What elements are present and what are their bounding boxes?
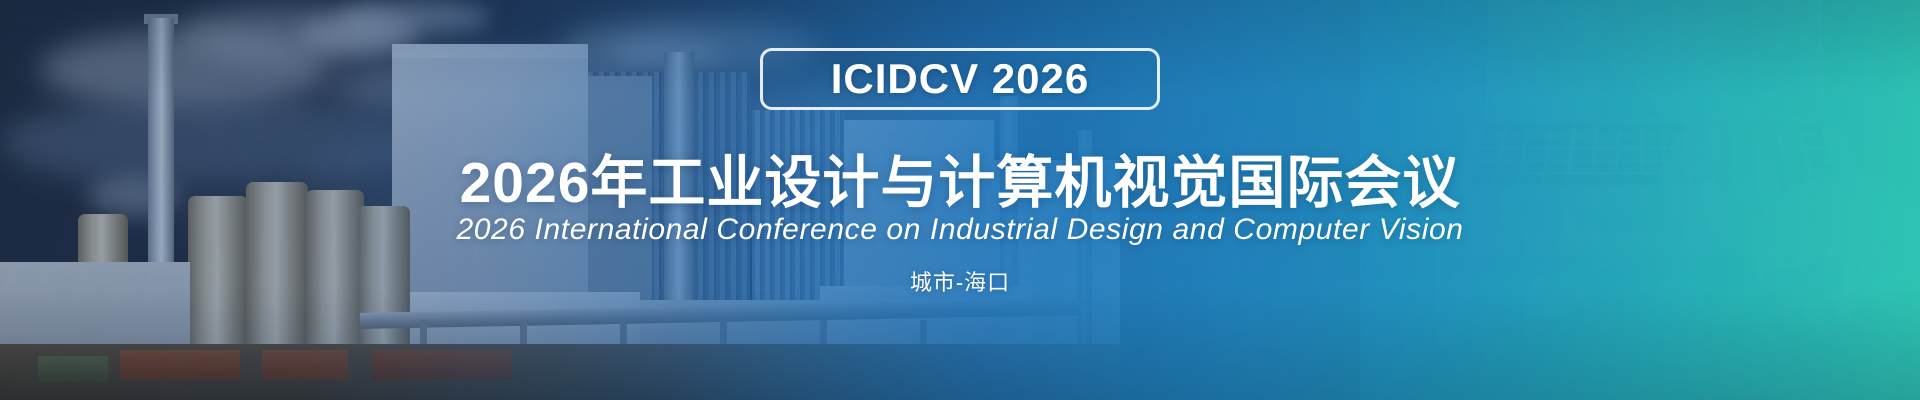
banner-content: ICIDCV 2026 2026年工业设计与计算机视觉国际会议 2026 Int… xyxy=(0,0,1920,400)
conference-title-english: 2026 International Conference on Industr… xyxy=(0,213,1920,247)
conference-banner: 0100100101100011010010010100010001000011… xyxy=(0,0,1920,400)
acronym-badge: ICIDCV 2026 xyxy=(760,48,1160,110)
acronym-badge-label: ICIDCV 2026 xyxy=(831,55,1089,103)
conference-title-chinese: 2026年工业设计与计算机视觉国际会议 xyxy=(0,137,1920,219)
conference-city: 城市-海口 xyxy=(0,265,1920,297)
